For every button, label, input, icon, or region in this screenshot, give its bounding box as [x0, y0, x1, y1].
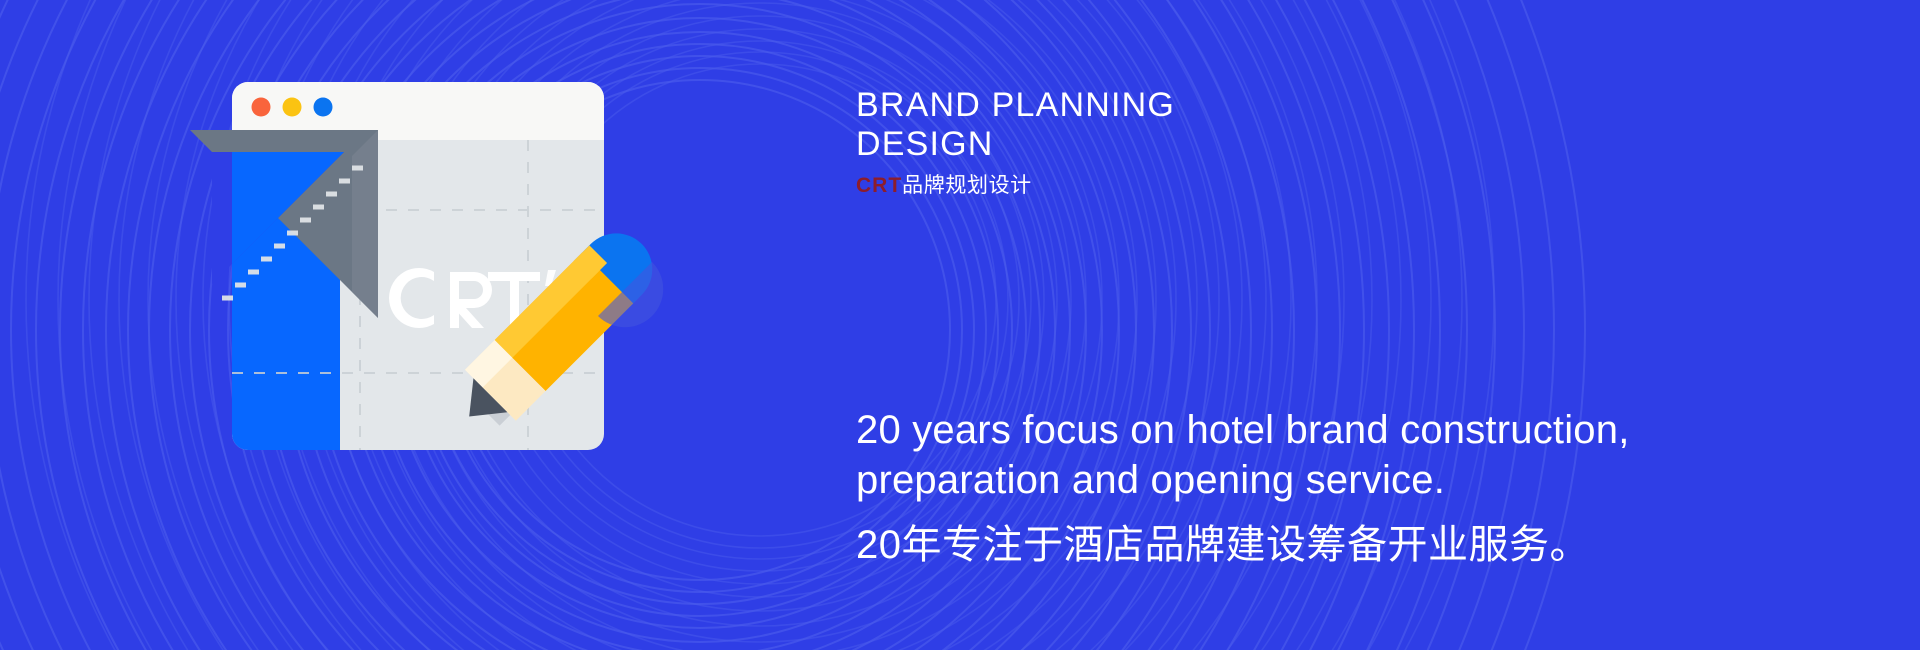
brand-illustration [0, 0, 900, 650]
brand-subtitle: CRT品牌规划设计 [856, 173, 1616, 199]
tagline-chinese: 20年专注于酒店品牌建设筹备开业服务。 [856, 519, 1836, 571]
maximize-dot [314, 98, 333, 117]
brand-banner: BRAND PLANNING DESIGN CRT品牌规划设计 20 years… [0, 0, 1920, 650]
close-dot [252, 98, 271, 117]
tagline-block: 20 years focus on hotel brand constructi… [856, 405, 1836, 571]
tagline-english: 20 years focus on hotel brand constructi… [856, 405, 1836, 505]
brand-subtitle-cn: 品牌规划设计 [902, 174, 1032, 197]
brand-mark: CRT [856, 174, 902, 197]
page-title: BRAND PLANNING DESIGN [856, 86, 1616, 164]
minimize-dot [283, 98, 302, 117]
heading-block: BRAND PLANNING DESIGN CRT品牌规划设计 [856, 86, 1616, 199]
